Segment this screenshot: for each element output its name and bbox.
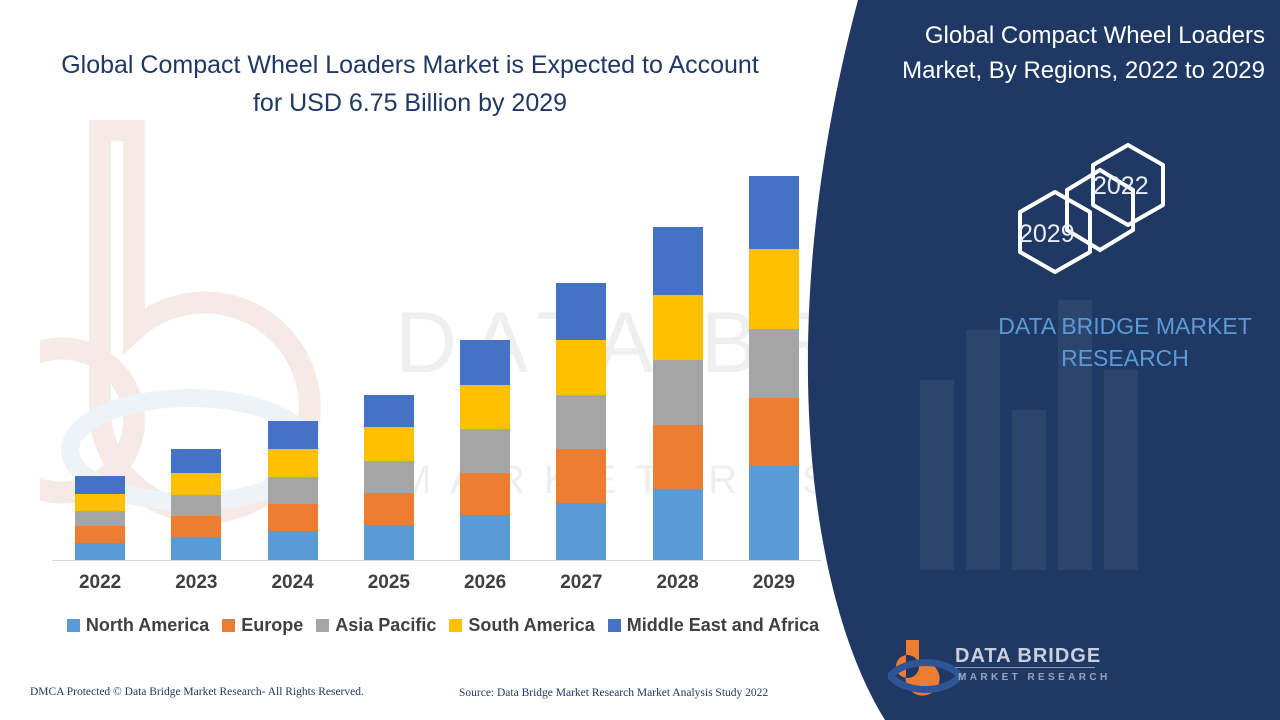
legend-label: Europe <box>241 615 303 636</box>
bar-segment <box>749 249 799 329</box>
legend-item-europe[interactable]: Europe <box>222 615 303 636</box>
bar-segment <box>171 516 221 538</box>
footer-source: Source: Data Bridge Market Research Mark… <box>459 687 768 699</box>
hexagon-label-end: 2029 <box>1019 220 1075 249</box>
bar-segment <box>653 360 703 425</box>
x-axis-line <box>52 560 822 561</box>
x-axis-label-2026: 2026 <box>437 572 533 594</box>
legend-item-asia-pacific[interactable]: Asia Pacific <box>316 615 436 636</box>
bar-segment <box>460 429 510 473</box>
bar-segment <box>460 385 510 429</box>
legend-item-south-america[interactable]: South America <box>449 615 594 636</box>
bar-segment <box>75 494 125 510</box>
brand-name: DATA BRIDGE MARKET RESEARCH <box>980 310 1270 374</box>
bar-segment <box>75 526 125 542</box>
bar-segment <box>653 489 703 560</box>
x-axis-label-2027: 2027 <box>533 572 629 594</box>
bar-segment <box>460 473 510 515</box>
x-axis-label-2025: 2025 <box>341 572 437 594</box>
bar-segment <box>75 543 125 560</box>
bar-2028[interactable] <box>653 227 703 560</box>
bar-2027[interactable] <box>556 283 606 560</box>
footer-copyright: DMCA Protected © Data Bridge Market Rese… <box>30 686 364 698</box>
x-axis-label-2024: 2024 <box>245 572 341 594</box>
legend-swatch-icon <box>222 619 235 632</box>
chart-legend: North AmericaEuropeAsia PacificSouth Ame… <box>58 615 828 636</box>
legend-label: Asia Pacific <box>335 615 436 636</box>
infographic-page: DATA BRIDGE MARKET RESEARCH Global Compa… <box>0 0 1280 720</box>
bar-segment <box>268 504 318 532</box>
legend-label: South America <box>468 615 594 636</box>
bar-segment <box>364 493 414 525</box>
x-axis-labels: 20222023202420252026202720282029 <box>52 572 822 602</box>
bar-2025[interactable] <box>364 395 414 560</box>
bar-segment <box>749 329 799 398</box>
bar-segment <box>653 295 703 361</box>
bar-segment <box>75 511 125 526</box>
bar-chart-bars <box>52 150 822 560</box>
legend-item-middle-east-and-africa[interactable]: Middle East and Africa <box>608 615 819 636</box>
panel-title: Global Compact Wheel Loaders Market, By … <box>900 18 1265 88</box>
bar-segment <box>364 427 414 461</box>
legend-label: Middle East and Africa <box>627 615 819 636</box>
x-axis-label-2022: 2022 <box>52 572 148 594</box>
bar-segment <box>749 176 799 250</box>
bar-segment <box>556 395 606 449</box>
bar-segment <box>268 421 318 450</box>
logo-title: DATA BRIDGE <box>955 645 1101 668</box>
bar-2023[interactable] <box>171 449 221 560</box>
bar-segment <box>556 283 606 339</box>
bar-segment <box>268 531 318 560</box>
legend-swatch-icon <box>608 619 621 632</box>
bar-segment <box>171 473 221 496</box>
bar-segment <box>653 425 703 490</box>
bar-segment <box>364 525 414 560</box>
chart-title: Global Compact Wheel Loaders Market is E… <box>60 46 760 122</box>
legend-swatch-icon <box>67 619 80 632</box>
bar-2026[interactable] <box>460 340 510 560</box>
bar-segment <box>556 449 606 502</box>
bar-segment <box>171 495 221 516</box>
bar-segment <box>556 503 606 560</box>
bar-segment <box>460 340 510 385</box>
bar-segment <box>749 466 799 560</box>
bar-segment <box>749 398 799 466</box>
hexagon-2022-icon <box>1060 130 1240 270</box>
logo-divider <box>955 667 1095 668</box>
x-axis-label-2028: 2028 <box>630 572 726 594</box>
bar-2029[interactable] <box>749 176 799 560</box>
bar-2022[interactable] <box>75 476 125 560</box>
bar-segment <box>171 537 221 560</box>
hexagon-label-start: 2022 <box>1093 172 1149 201</box>
bar-2024[interactable] <box>268 421 318 560</box>
bar-segment <box>364 395 414 427</box>
legend-item-north-america[interactable]: North America <box>67 615 209 636</box>
x-axis-label-2023: 2023 <box>148 572 244 594</box>
bar-segment <box>75 476 125 494</box>
legend-label: North America <box>86 615 209 636</box>
legend-swatch-icon <box>449 619 462 632</box>
bar-segment <box>268 477 318 504</box>
bar-segment <box>268 449 318 477</box>
bar-segment <box>556 340 606 395</box>
bar-segment <box>171 449 221 473</box>
bar-segment <box>364 461 414 494</box>
legend-swatch-icon <box>316 619 329 632</box>
bar-segment <box>653 227 703 295</box>
logo-subtitle: MARKET RESEARCH <box>958 672 1111 683</box>
bar-segment <box>460 515 510 560</box>
